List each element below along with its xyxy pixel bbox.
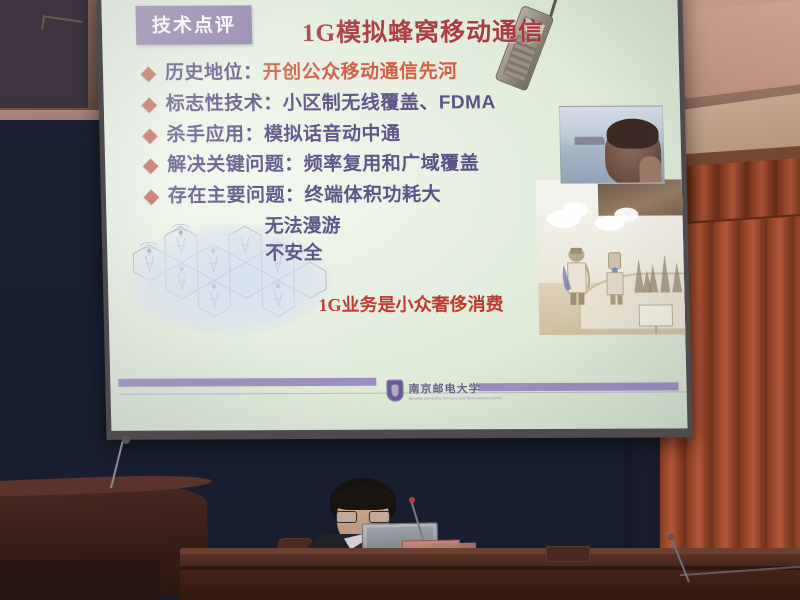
accent-bar-right: [478, 382, 678, 391]
scene-photo: 技术点评 1G模拟蜂窝移动通信 历史地位：开创公众移动通信先河 标志性技术：小区…: [0, 0, 800, 600]
accent-bar-left: [118, 378, 376, 387]
bullet-item: 历史地位：开创公众移动通信先河: [143, 60, 496, 85]
logo-chinese-name: 南京邮电大学: [408, 380, 502, 396]
bullet-text: 解决关键问题：频率复用和广域覆盖: [167, 153, 480, 178]
glasses-icon: [336, 511, 390, 523]
cartoon-cloud: [562, 202, 588, 218]
diamond-bullet-icon: [141, 66, 157, 82]
bullet-text: 标志性技术：小区制无线覆盖、FDMA: [165, 91, 496, 116]
right-microphone-tip: [668, 534, 674, 540]
cartoon-person-left: [559, 247, 594, 309]
photo-boat: [575, 137, 605, 145]
screen-frame: 技术点评 1G模拟蜂窝移动通信 历史地位：开创公众移动通信先河 标志性技术：小区…: [96, 0, 693, 440]
diamond-bullet-icon: [141, 97, 157, 113]
sub-item: 无法漫游: [264, 214, 499, 240]
cartoon-cloud: [614, 208, 638, 222]
bullet-label: 历史地位：: [165, 62, 263, 83]
photo-person-sea: [559, 106, 665, 184]
slide-title: 1G模拟蜂窝移动通信: [302, 12, 545, 49]
bullet-text: 杀手应用：模拟话音动中通: [166, 122, 401, 147]
slide-bullet-list: 历史地位：开创公众移动通信先河 标志性技术：小区制无线覆盖、FDMA 杀手应用：…: [143, 60, 500, 268]
bullet-item: 杀手应用：模拟话音动中通: [144, 122, 497, 147]
logo-english-name: Nanjing University of Posts and Telecomm…: [409, 396, 503, 400]
bullet-item: 存在主要问题：终端体积功耗大: [146, 183, 499, 208]
projection-screen: 技术点评 1G模拟蜂窝移动通信 历史地位：开创公众移动通信先河 标志性技术：小区…: [96, 0, 693, 440]
slide-section-badge: 技术点评: [135, 5, 252, 44]
cartoon-tower: [642, 271, 653, 293]
logo-text-group: 南京邮电大学 Nanjing University of Posts and T…: [408, 380, 502, 400]
photo-person-hair: [606, 119, 659, 149]
sub-item: 不安全: [265, 242, 500, 268]
cartoon-person-right: [599, 251, 630, 309]
bullet-rest: 模拟话音动中通: [264, 123, 401, 145]
bullet-item: 标志性技术：小区制无线覆盖、FDMA: [143, 91, 496, 116]
desk-microphone-tip: [409, 497, 415, 503]
bullet-highlight: 开创公众移动通信先河: [262, 61, 458, 83]
diamond-bullet-icon: [142, 128, 158, 144]
presenter-hair-front: [332, 486, 394, 510]
presentation-slide: 技术点评 1G模拟蜂窝移动通信 历史地位：开创公众移动通信先河 标志性技术：小区…: [101, 0, 687, 431]
photo-person-hand: [639, 157, 662, 183]
university-logo: 南京邮电大学 Nanjing University of Posts and T…: [386, 379, 502, 401]
podium-microphone-head: [122, 436, 130, 444]
diamond-bullet-icon: [143, 159, 159, 175]
bullet-rest: 小区制无线覆盖、FDMA: [283, 92, 496, 114]
bullet-label: 标志性技术：: [166, 93, 284, 115]
cartoon-signboard: [639, 304, 674, 326]
left-podium-base: [0, 560, 160, 600]
cartoon-tower: [659, 254, 670, 292]
bullet-label: 杀手应用：: [166, 124, 264, 145]
shield-icon: [386, 380, 404, 402]
desk-shadow: [180, 566, 800, 570]
bullet-text: 历史地位：开创公众移动通信先河: [165, 60, 458, 85]
presenter-desk: [180, 552, 800, 600]
bullet-label: 解决关键问题：: [167, 154, 304, 176]
bullet-text: 存在主要问题：终端体积功耗大: [168, 183, 442, 208]
bullet-item: 解决关键问题：频率复用和广域覆盖: [145, 152, 498, 177]
glasses-lens-left: [336, 511, 357, 523]
cartoon-top-photo: [598, 179, 687, 215]
desk-object: [546, 546, 590, 562]
cartoon-tower: [672, 262, 683, 292]
cartoon-towers-illustration: [536, 179, 688, 335]
bullet-rest: 频率复用和广域覆盖: [303, 154, 479, 176]
glasses-lens-right: [369, 511, 390, 523]
bullet-rest: 终端体积功耗大: [304, 184, 441, 206]
diamond-bullet-icon: [144, 189, 160, 205]
slide-footer-note: 1G业务是小众奢侈消费: [318, 290, 504, 317]
bullet-label: 存在主要问题：: [168, 185, 305, 207]
